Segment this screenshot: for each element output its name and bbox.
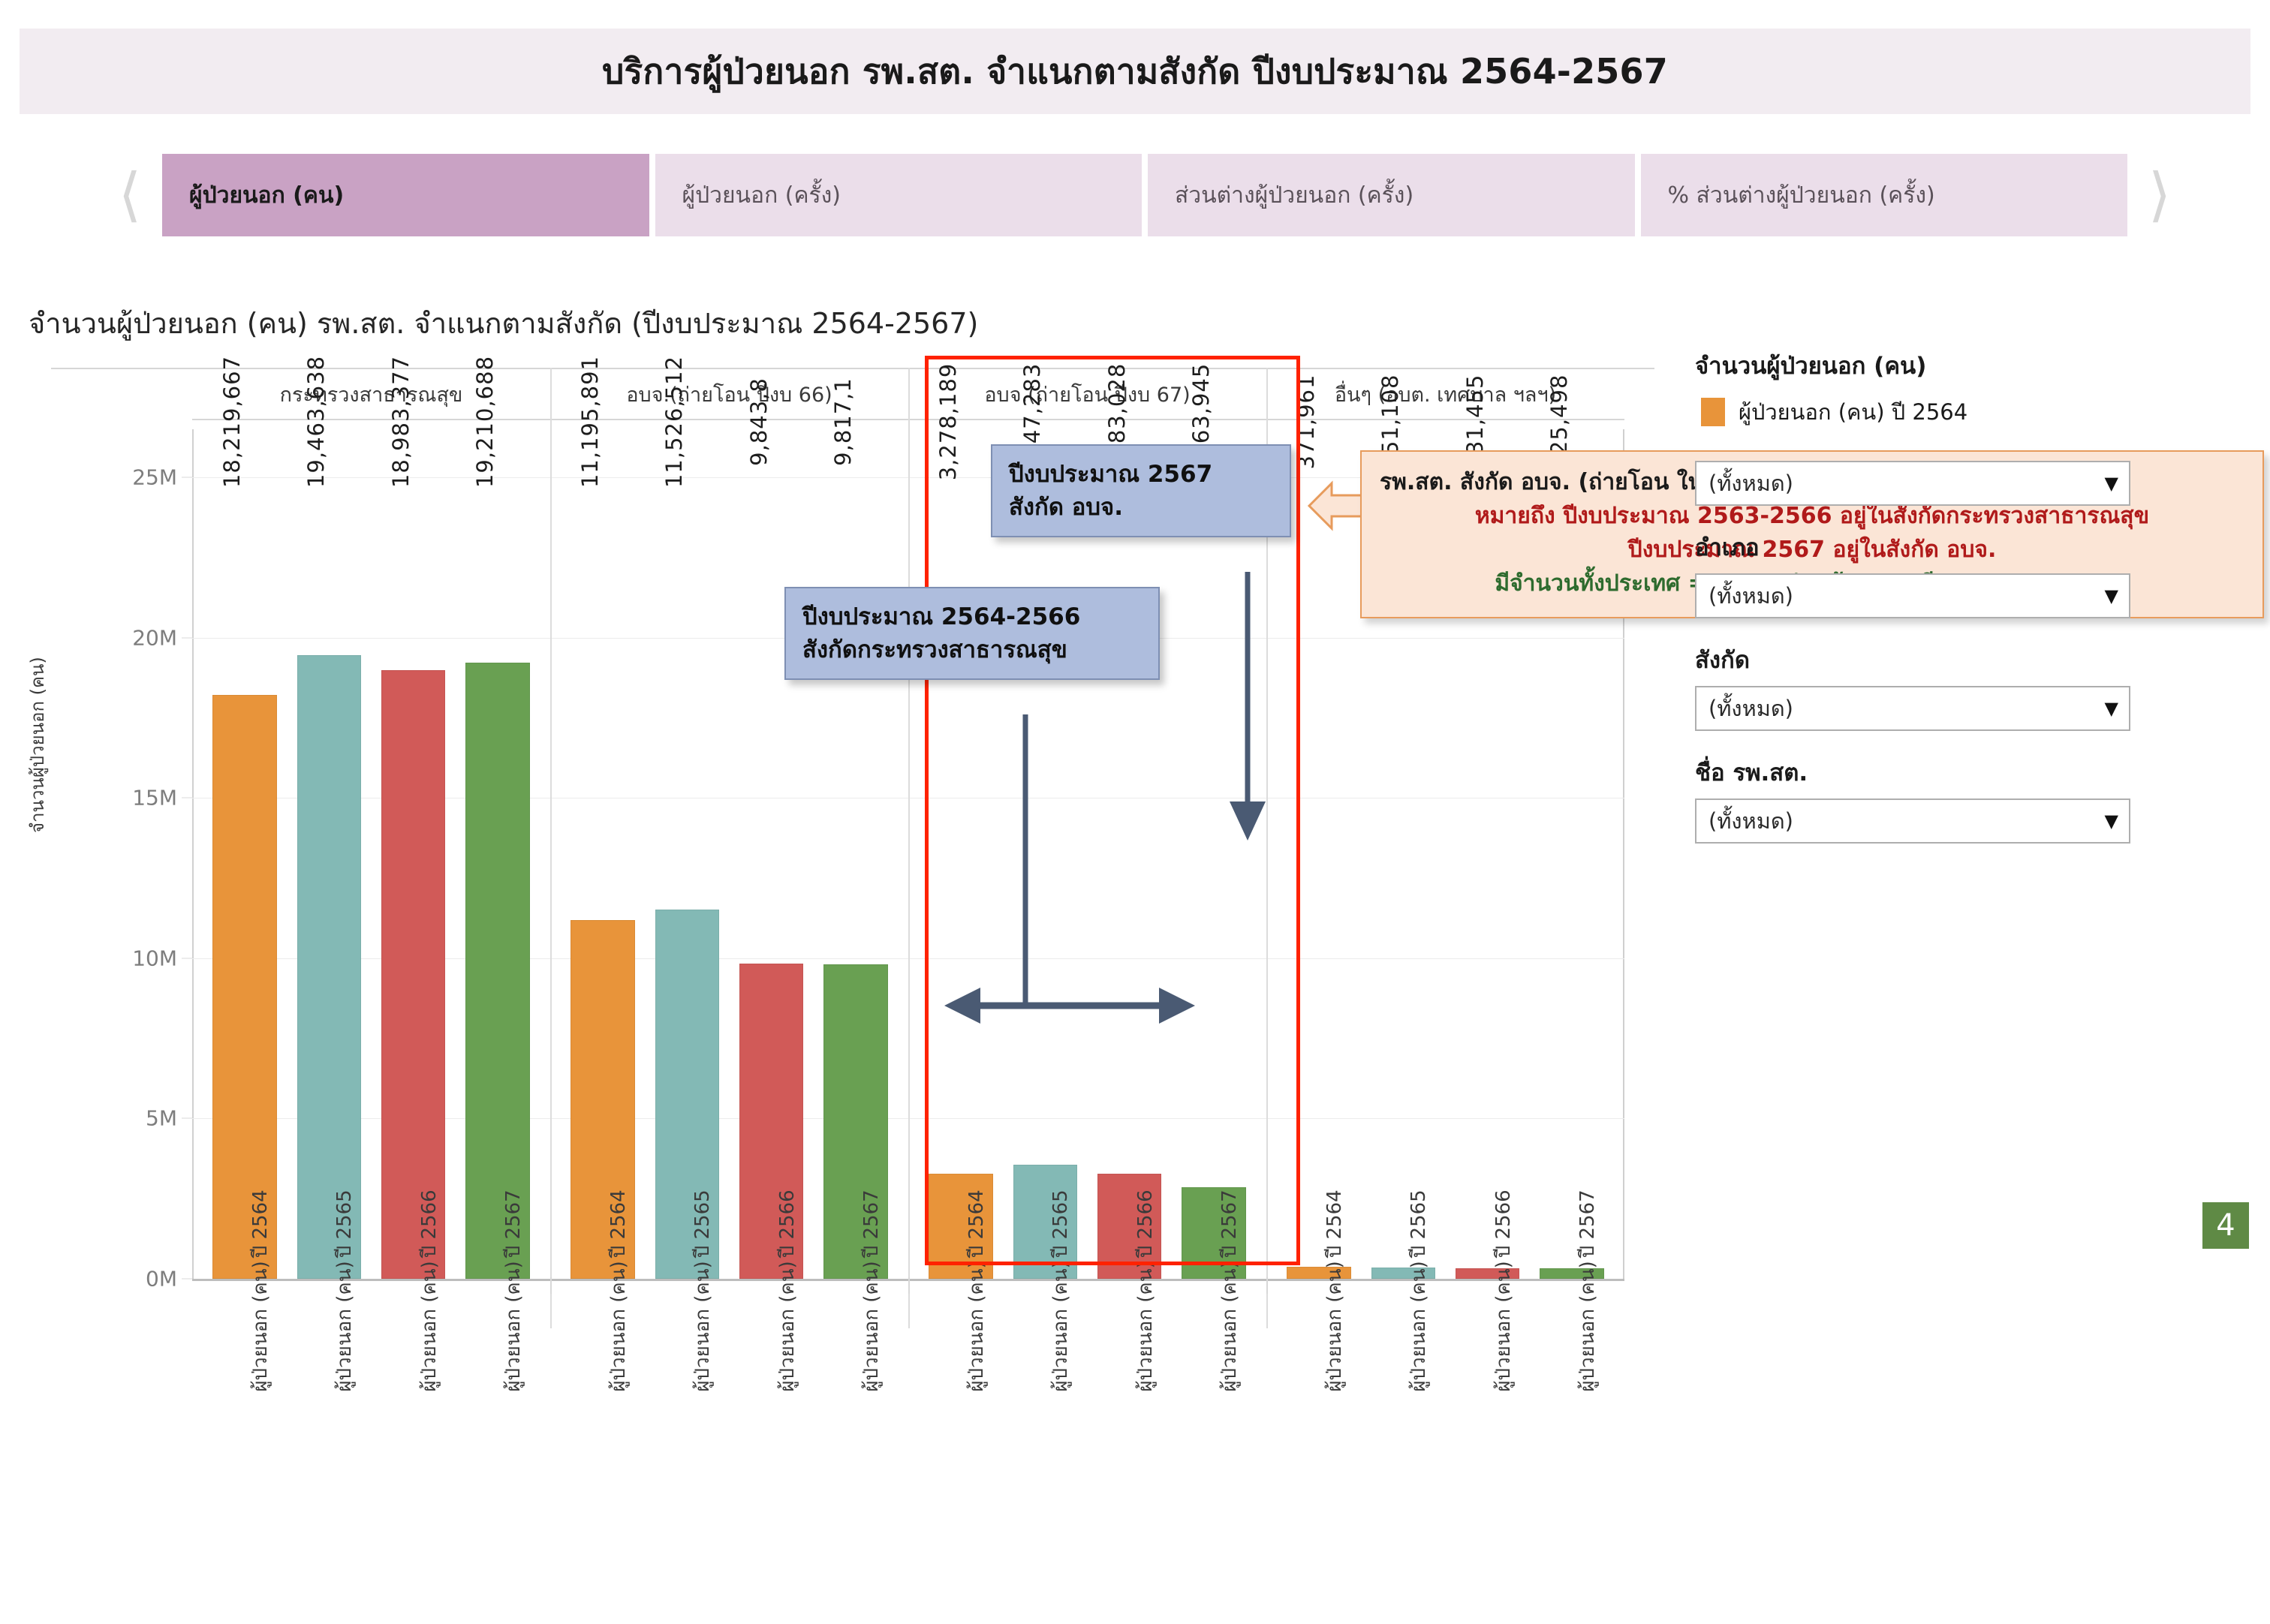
x-label-line1: ผู้ป่วยนอก (คน) xyxy=(245,1261,275,1391)
page-title: บริการผู้ป่วยนอก รพ.สต. จำแนกตามสังกัด ป… xyxy=(602,44,1668,99)
bar-value-label: 371,961 xyxy=(1293,374,1319,470)
x-label-cell: ผู้ป่วยนอก (คน)ปี 2565 xyxy=(1003,1279,1087,1624)
x-label-line1: ผู้ป่วยนอก (คน) xyxy=(498,1261,528,1391)
x-label-line1: ผู้ป่วยนอก (คน) xyxy=(1319,1261,1350,1391)
bar-value-label: 18,219,667 xyxy=(219,356,245,488)
filter-affiliation-label: สังกัด xyxy=(1695,641,2250,678)
chart-heading: จำนวนผู้ป่วยนอก (คน) รพ.สต. จำแนกตามสังก… xyxy=(29,300,978,346)
tab-outpatient-visit-diff-pct[interactable]: % ส่วนต่างผู้ป่วยนอก (ครั้ง) xyxy=(1641,154,2128,236)
x-label-line2: ปี 2567 xyxy=(498,1189,528,1258)
chevron-left-icon[interactable]: ⟨ xyxy=(98,154,162,236)
x-axis-tick-label: ผู้ป่วยนอก (คน)ปี 2565 xyxy=(329,1189,360,1391)
x-axis-labels: ผู้ป่วยนอก (คน)ปี 2564ผู้ป่วยนอก (คน)ปี … xyxy=(192,1279,1624,1624)
y-axis-tick-label: 25M xyxy=(132,465,177,490)
x-label-line2: ปี 2564 xyxy=(603,1189,634,1258)
filter-facility-name-value: (ทั้งหมด) xyxy=(1709,804,1793,838)
filter-facility-name: ชื่อ รพ.สต. (ทั้งหมด) ▼ xyxy=(1695,753,2250,844)
x-axis-tick-label: ผู้ป่วยนอก (คน)ปี 2565 xyxy=(687,1189,718,1391)
filter-district-label: อำเภอ xyxy=(1695,528,2250,566)
bar-value-label: 19,210,688 xyxy=(472,356,498,488)
x-axis-tick-label: ผู้ป่วยนอก (คน)ปี 2564 xyxy=(961,1189,992,1391)
tab-label: ผู้ป่วยนอก (คน) xyxy=(189,178,344,213)
x-label-line1: ผู้ป่วยนอก (คน) xyxy=(772,1261,802,1391)
legend-item: ผู้ป่วยนอก (คน) ปี 2564 xyxy=(1701,395,2250,429)
x-label-line2: ปี 2565 xyxy=(687,1189,718,1258)
filter-province-select[interactable]: (ทั้งหมด) ▼ xyxy=(1695,461,2130,506)
y-axis-tick-label: 20M xyxy=(132,625,177,650)
x-label-cell: ผู้ป่วยนอก (คน)ปี 2566 xyxy=(372,1279,456,1624)
x-axis-tick-label: ผู้ป่วยนอก (คน)ปี 2566 xyxy=(772,1189,802,1391)
tab-strip: ⟨ ผู้ป่วยนอก (คน) ผู้ป่วยนอก (ครั้ง) ส่ว… xyxy=(98,154,2192,236)
filter-province: (ทั้งหมด) ▼ xyxy=(1695,461,2250,506)
x-label-line2: ปี 2564 xyxy=(1319,1189,1350,1258)
x-label-line2: ปี 2566 xyxy=(414,1189,444,1258)
x-label-line1: ผู้ป่วยนอก (คน) xyxy=(961,1261,992,1391)
x-label-cell: ผู้ป่วยนอก (คน)ปี 2565 xyxy=(287,1279,371,1624)
x-label-line1: ผู้ป่วยนอก (คน) xyxy=(1403,1261,1434,1391)
callout-fy2564-2566-line2: สังกัดกระทรวงสาธารณสุข xyxy=(802,633,1142,666)
bar-cell[interactable]: 11,195,891 xyxy=(561,429,645,1279)
y-axis-tick-mark xyxy=(182,637,192,638)
x-label-group: ผู้ป่วยนอก (คน)ปี 2564ผู้ป่วยนอก (คน)ปี … xyxy=(1266,1279,1624,1624)
tab-outpatient-persons[interactable]: ผู้ป่วยนอก (คน) xyxy=(162,154,649,236)
x-label-line2: ปี 2566 xyxy=(1488,1189,1519,1258)
x-label-line2: ปี 2567 xyxy=(856,1189,887,1258)
bar-cell[interactable]: 2,863,945 xyxy=(1172,429,1256,1279)
tab-outpatient-visit-diff[interactable]: ส่วนต่างผู้ป่วยนอก (ครั้ง) xyxy=(1148,154,1635,236)
bar-cell[interactable]: 3,547,283 xyxy=(1003,429,1087,1279)
legend-color-swatch xyxy=(1701,398,1725,426)
x-axis-tick-label: ผู้ป่วยนอก (คน)ปี 2567 xyxy=(498,1189,528,1391)
bar-cell[interactable]: 371,961 xyxy=(1277,429,1361,1279)
bar-cell[interactable]: 9,843,8 xyxy=(730,429,814,1279)
group-separator xyxy=(908,368,910,1328)
x-label-line1: ผู้ป่วยนอก (คน) xyxy=(856,1261,887,1391)
callout-fy2564-2566-line1: ปีงบประมาณ 2564-2566 xyxy=(802,600,1142,633)
y-axis-tick-label: 0M xyxy=(146,1267,177,1292)
bar-cell[interactable]: 3,278,189 xyxy=(919,429,1003,1279)
x-label-cell: ผู้ป่วยนอก (คน)ปี 2567 xyxy=(1530,1279,1614,1624)
x-label-line2: ปี 2566 xyxy=(1130,1189,1161,1258)
y-axis-tick-mark xyxy=(182,798,192,798)
filter-province-value: (ทั้งหมด) xyxy=(1709,466,1793,501)
x-label-line2: ปี 2567 xyxy=(1214,1189,1245,1258)
right-panel: จำนวนผู้ป่วยนอก (คน) ผู้ป่วยนอก (คน) ปี … xyxy=(1695,347,2250,844)
x-label-line1: ผู้ป่วยนอก (คน) xyxy=(1488,1261,1519,1391)
x-axis-tick-label: ผู้ป่วยนอก (คน)ปี 2564 xyxy=(245,1189,275,1391)
x-label-cell: ผู้ป่วยนอก (คน)ปี 2567 xyxy=(456,1279,540,1624)
x-label-line2: ปี 2567 xyxy=(1572,1189,1603,1258)
tab-label: ส่วนต่างผู้ป่วยนอก (ครั้ง) xyxy=(1175,178,1413,213)
callout-fy2564-2566: ปีงบประมาณ 2564-2566 สังกัดกระทรวงสาธารณ… xyxy=(784,587,1160,680)
bar-cell[interactable]: 18,983,377 xyxy=(372,429,456,1279)
y-axis-tick-label: 5M xyxy=(146,1106,177,1131)
x-axis-tick-label: ผู้ป่วยนอก (คน)ปี 2566 xyxy=(1130,1189,1161,1391)
x-label-line1: ผู้ป่วยนอก (คน) xyxy=(1045,1261,1076,1391)
y-axis-title: จำนวนผู้ป่วยนอก (คน) xyxy=(23,657,52,833)
x-label-cell: ผู้ป่วยนอก (คน)ปี 2565 xyxy=(1361,1279,1445,1624)
x-label-cell: ผู้ป่วยนอก (คน)ปี 2564 xyxy=(1277,1279,1361,1624)
bar[interactable] xyxy=(465,663,529,1279)
y-axis-tick-label: 10M xyxy=(132,946,177,970)
bar-group: 3,278,1893,547,2833,283,0282,863,945 xyxy=(908,429,1266,1279)
x-label-cell: ผู้ป่วยนอก (คน)ปี 2564 xyxy=(561,1279,645,1624)
tab-label: % ส่วนต่างผู้ป่วยนอก (ครั้ง) xyxy=(1668,178,1935,213)
callout-fy2567: ปีงบประมาณ 2567 สังกัด อบจ. xyxy=(991,444,1291,537)
bar[interactable] xyxy=(381,670,445,1279)
y-axis-tick-mark xyxy=(182,1118,192,1119)
x-label-group: ผู้ป่วยนอก (คน)ปี 2564ผู้ป่วยนอก (คน)ปี … xyxy=(192,1279,550,1624)
callout-fy2567-line2: สังกัด อบจ. xyxy=(1009,491,1273,524)
x-label-cell: ผู้ป่วยนอก (คน)ปี 2565 xyxy=(645,1279,729,1624)
x-label-line1: ผู้ป่วยนอก (คน) xyxy=(329,1261,360,1391)
x-label-cell: ผู้ป่วยนอก (คน)ปี 2567 xyxy=(814,1279,898,1624)
note-arrow-icon xyxy=(1306,477,1366,534)
bar-cell[interactable]: 9,817,1 xyxy=(814,429,898,1279)
x-axis-tick-label: ผู้ป่วยนอก (คน)ปี 2564 xyxy=(1319,1189,1350,1391)
x-axis-tick-label: ผู้ป่วยนอก (คน)ปี 2565 xyxy=(1045,1189,1076,1391)
legend-title: จำนวนผู้ป่วยนอก (คน) xyxy=(1695,347,2250,384)
filter-affiliation-value: (ทั้งหมด) xyxy=(1709,691,1793,726)
x-label-line2: ปี 2564 xyxy=(245,1189,275,1258)
bar-cell[interactable]: 11,526,512 xyxy=(645,429,729,1279)
x-label-line1: ผู้ป่วยนอก (คน) xyxy=(1130,1261,1161,1391)
x-label-cell: ผู้ป่วยนอก (คน)ปี 2564 xyxy=(919,1279,1003,1624)
bar-value-label: 11,526,512 xyxy=(661,356,687,488)
y-axis-tick-label: 15M xyxy=(132,786,177,810)
caret-down-icon: ▼ xyxy=(2105,473,2118,494)
x-label-line1: ผู้ป่วยนอก (คน) xyxy=(1572,1261,1603,1391)
x-label-cell: ผู้ป่วยนอก (คน)ปี 2567 xyxy=(1172,1279,1256,1624)
x-axis-tick-label: ผู้ป่วยนอก (คน)ปี 2567 xyxy=(1214,1189,1245,1391)
caret-down-icon: ▼ xyxy=(2105,810,2118,832)
group-separator xyxy=(550,368,552,1328)
y-axis-tick-mark xyxy=(182,477,192,478)
bar-value-label: 11,195,891 xyxy=(577,356,603,488)
bar[interactable] xyxy=(297,655,361,1279)
x-label-line2: ปี 2565 xyxy=(329,1189,360,1258)
caret-down-icon: ▼ xyxy=(2105,698,2118,719)
caret-down-icon: ▼ xyxy=(2105,585,2118,606)
bar-group: 11,195,89111,526,5129,843,89,817,1 xyxy=(550,429,908,1279)
filter-facility-name-select[interactable]: (ทั้งหมด) ▼ xyxy=(1695,798,2130,844)
x-label-group: ผู้ป่วยนอก (คน)ปี 2564ผู้ป่วยนอก (คน)ปี … xyxy=(908,1279,1266,1624)
filter-district-value: (ทั้งหมด) xyxy=(1709,579,1793,613)
bar-value-label: 9,817,1 xyxy=(830,377,856,466)
bar-group: 18,219,66719,463,63818,983,37719,210,688 xyxy=(192,429,550,1279)
y-axis-tick-mark xyxy=(182,1279,192,1280)
x-label-cell: ผู้ป่วยนอก (คน)ปี 2564 xyxy=(203,1279,287,1624)
x-label-cell: ผู้ป่วยนอก (คน)ปี 2566 xyxy=(730,1279,814,1624)
bar-cell[interactable]: 19,210,688 xyxy=(456,429,540,1279)
x-label-line1: ผู้ป่วยนอก (คน) xyxy=(603,1261,634,1391)
bar-value-label: 3,278,189 xyxy=(935,363,961,481)
filter-district: อำเภอ (ทั้งหมด) ▼ xyxy=(1695,528,2250,618)
bar-value-label: 18,983,377 xyxy=(388,356,414,488)
x-label-line1: ผู้ป่วยนอก (คน) xyxy=(414,1261,444,1391)
x-axis-tick-label: ผู้ป่วยนอก (คน)ปี 2564 xyxy=(603,1189,634,1391)
bar-value-label: 9,843,8 xyxy=(746,377,772,466)
x-axis-tick-label: ผู้ป่วยนอก (คน)ปี 2567 xyxy=(1572,1189,1603,1391)
bar-cell[interactable]: 18,219,667 xyxy=(203,429,287,1279)
x-label-line2: ปี 2566 xyxy=(772,1189,802,1258)
bar-value-label: 19,463,638 xyxy=(303,356,329,488)
x-axis-tick-label: ผู้ป่วยนอก (คน)ปี 2567 xyxy=(856,1189,887,1391)
tab-label: ผู้ป่วยนอก (ครั้ง) xyxy=(682,178,841,213)
x-label-cell: ผู้ป่วยนอก (คน)ปี 2566 xyxy=(1446,1279,1530,1624)
tabs-container: ผู้ป่วยนอก (คน) ผู้ป่วยนอก (ครั้ง) ส่วนต… xyxy=(162,154,2127,236)
x-axis-tick-label: ผู้ป่วยนอก (คน)ปี 2565 xyxy=(1403,1189,1434,1391)
tab-outpatient-visits[interactable]: ผู้ป่วยนอก (ครั้ง) xyxy=(655,154,1143,236)
filter-facility-name-label: ชื่อ รพ.สต. xyxy=(1695,753,2250,791)
x-axis-tick-label: ผู้ป่วยนอก (คน)ปี 2566 xyxy=(414,1189,444,1391)
page-title-band: บริการผู้ป่วยนอก รพ.สต. จำแนกตามสังกัด ป… xyxy=(20,29,2250,114)
y-axis-tick-mark xyxy=(182,958,192,958)
page-number-badge: 4 xyxy=(2202,1202,2249,1249)
x-label-cell: ผู้ป่วยนอก (คน)ปี 2566 xyxy=(1088,1279,1172,1624)
filter-district-select[interactable]: (ทั้งหมด) ▼ xyxy=(1695,573,2130,618)
bar-cell[interactable]: 19,463,638 xyxy=(287,429,371,1279)
filter-affiliation: สังกัด (ทั้งหมด) ▼ xyxy=(1695,641,2250,731)
x-label-line2: ปี 2565 xyxy=(1045,1189,1076,1258)
chevron-right-icon[interactable]: ⟩ xyxy=(2127,154,2192,236)
callout-fy2567-line1: ปีงบประมาณ 2567 xyxy=(1009,458,1273,491)
filter-affiliation-select[interactable]: (ทั้งหมด) ▼ xyxy=(1695,686,2130,731)
x-axis-tick-label: ผู้ป่วยนอก (คน)ปี 2566 xyxy=(1488,1189,1519,1391)
x-label-line1: ผู้ป่วยนอก (คน) xyxy=(1214,1261,1245,1391)
legend-item-label: ผู้ป่วยนอก (คน) ปี 2564 xyxy=(1739,395,1967,429)
x-label-line2: ปี 2565 xyxy=(1403,1189,1434,1258)
bar-cell[interactable]: 3,283,028 xyxy=(1088,429,1172,1279)
x-label-line1: ผู้ป่วยนอก (คน) xyxy=(687,1261,718,1391)
x-label-line2: ปี 2564 xyxy=(961,1189,992,1258)
x-label-group: ผู้ป่วยนอก (คน)ปี 2564ผู้ป่วยนอก (คน)ปี … xyxy=(550,1279,908,1624)
